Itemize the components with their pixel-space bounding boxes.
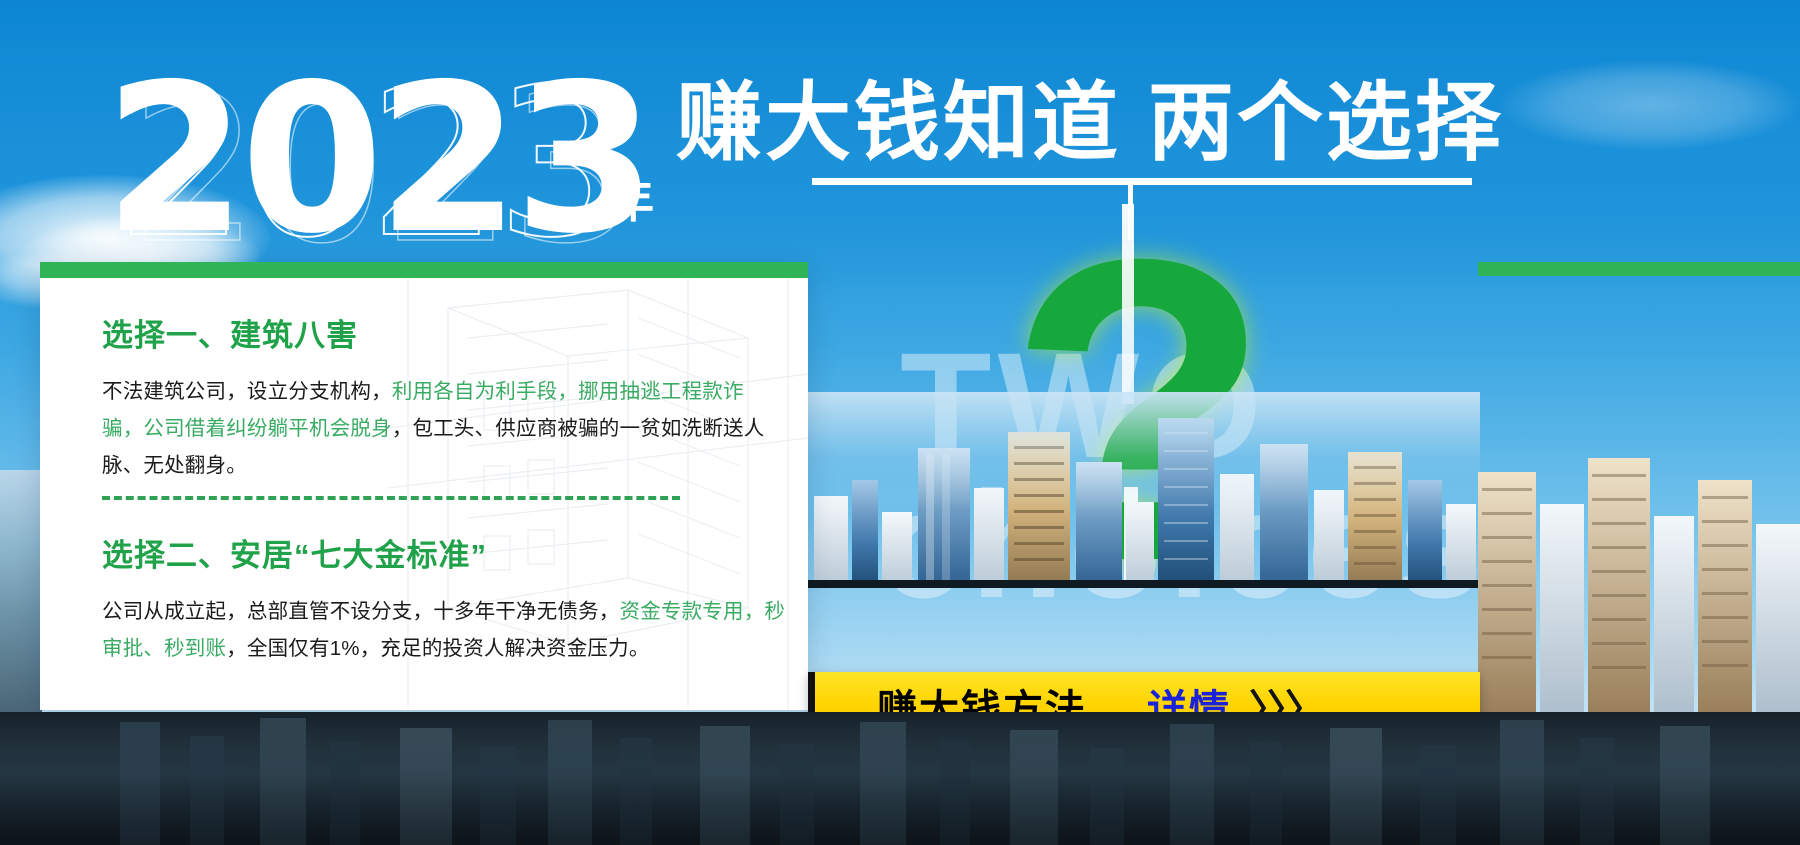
green-accent-bar <box>1478 262 1800 276</box>
section-one: 选择一、建筑八害 不法建筑公司，设立分支机构，利用各自为利手段，挪用抽逃工程款诈… <box>102 316 782 484</box>
content-card: 选择一、建筑八害 不法建筑公司，设立分支机构，利用各自为利手段，挪用抽逃工程款诈… <box>40 262 808 710</box>
right-skyline-graphic <box>1478 420 1800 712</box>
year-solid: 2023 <box>104 58 651 263</box>
section-one-body: 不法建筑公司，设立分支机构，利用各自为利手段，挪用抽逃工程款诈骗，公司借着纠纷躺… <box>102 373 782 484</box>
section-two: 选择二、安居“七大金标准” 公司从成立起，总部直管不设分支，十多年干净无债务，资… <box>102 536 792 667</box>
body-run-dark: ，全国仅有1%，充足的投资人解决资金压力。 <box>226 637 649 660</box>
page-title: 赚大钱知道 两个选择 <box>676 74 1504 172</box>
bottom-reflection-strip <box>0 712 1800 845</box>
year-display: 2023 2023 2023 <box>104 58 704 268</box>
section-two-body: 公司从成立起，总部直管不设分支，十多年干净无债务，资金专款专用，秒审批、秒到账，… <box>102 593 792 667</box>
question-mark-highlight <box>1122 204 1134 404</box>
city-skyline-photo <box>808 392 1480 588</box>
section-one-title: 选择一、建筑八害 <box>102 316 782 356</box>
section-divider <box>102 496 680 500</box>
year-suffix-label: 年 <box>608 178 654 224</box>
card-top-accent-bar <box>40 262 808 278</box>
banner-stage: 2023 2023 2023 年 赚大钱知道 两个选择 TWO choices … <box>0 0 1800 845</box>
body-run-dark: 公司从成立起，总部直管不设分支，十多年干净无债务， <box>102 600 620 623</box>
right-edge-skyline <box>1478 420 1800 712</box>
body-run-dark: 不法建筑公司，设立分支机构， <box>102 380 392 403</box>
section-two-title: 选择二、安居“七大金标准” <box>102 536 792 576</box>
reflection-graphic <box>0 712 1800 845</box>
left-edge-photo <box>0 470 42 712</box>
skyline-graphic <box>808 392 1480 588</box>
